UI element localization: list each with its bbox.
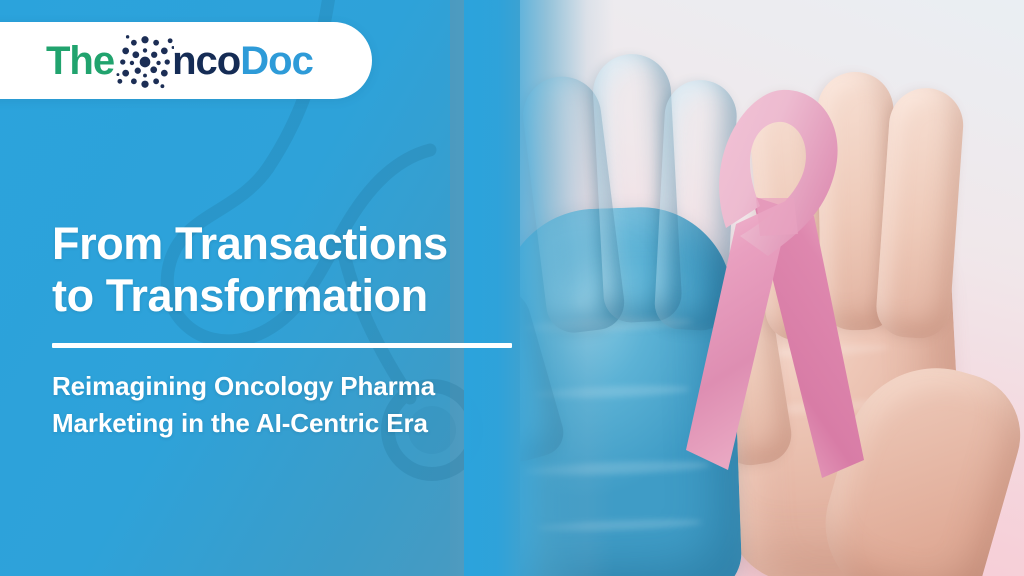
headline-line-2: to Transformation [52, 270, 520, 322]
page-title: From Transactions to Transformation [52, 218, 520, 322]
brand-logo-text: The [46, 32, 313, 90]
pink-awareness-ribbon [664, 78, 874, 508]
brand-logo-the: The [46, 41, 114, 81]
hero-photograph [464, 0, 1024, 576]
subtitle-line-1: Reimagining Oncology Pharma [52, 371, 435, 401]
brand-logo-nco: nco [172, 41, 240, 81]
brand-logo-doc: Doc [240, 41, 313, 81]
page-subtitle: Reimagining Oncology Pharma Marketing in… [52, 368, 520, 443]
cancer-cell-molecule-icon [116, 33, 174, 91]
promo-banner: From Transactions to Transformation Reim… [0, 0, 1024, 576]
subtitle-line-2: Marketing in the AI-Centric Era [52, 405, 520, 442]
headline-line-1: From Transactions [52, 218, 448, 269]
brand-logo[interactable]: The [0, 22, 372, 99]
title-divider [52, 343, 512, 348]
